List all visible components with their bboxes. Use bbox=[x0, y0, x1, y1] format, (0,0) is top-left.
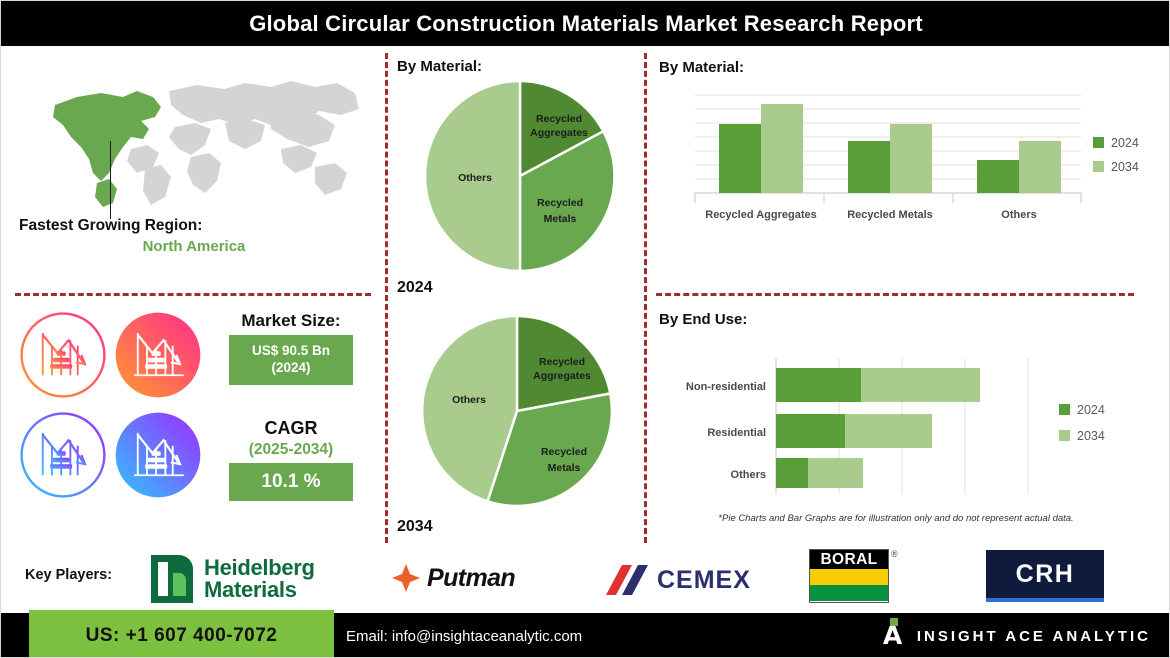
footer-phone[interactable]: US: +1 607 400-7072 bbox=[29, 613, 334, 658]
declining-chart-icon-filled-warm bbox=[112, 309, 204, 401]
bar-chart-legend: 2024 2034 bbox=[1093, 136, 1139, 174]
declining-chart-icon-outline-cool bbox=[17, 409, 109, 501]
bar-2034-others bbox=[1019, 141, 1061, 193]
insight-ace-logo-icon: A bbox=[883, 621, 905, 651]
bar-2034-recycled-aggregates bbox=[761, 104, 803, 193]
pie-section-heading: By Material: bbox=[397, 58, 482, 75]
stacked-bar-chart-by-end-use: Non-residential Residential Others 2024 … bbox=[661, 346, 1141, 511]
legend-swatch-2034 bbox=[1093, 161, 1104, 172]
hbar-chart-legend: 2024 2034 bbox=[1059, 403, 1105, 443]
key-players-label: Key Players: bbox=[25, 567, 112, 583]
footer-email[interactable]: Email: info@insightaceanalytic.com bbox=[346, 613, 582, 658]
pie-label-others: Others bbox=[452, 394, 486, 406]
brand-lockup: A INSIGHT ACE ANALYTIC bbox=[883, 613, 1151, 658]
pie-label-aggregates-line1: Recycled bbox=[539, 356, 585, 368]
declining-chart-icon-filled-cool bbox=[112, 409, 204, 501]
boral-registered-mark: ® bbox=[891, 549, 898, 559]
pie-label-metals-line1: Recycled bbox=[537, 197, 583, 209]
declining-chart-icon-outline-warm bbox=[17, 309, 109, 401]
cemex-wordmark: CEMEX bbox=[657, 566, 751, 595]
bar-2034-recycled-metals bbox=[890, 124, 932, 193]
legend-label-2024: 2024 bbox=[1111, 136, 1139, 150]
hbar-2024-others bbox=[776, 458, 808, 488]
bar-category-label-2: Others bbox=[1001, 209, 1036, 221]
legend-label-2034: 2034 bbox=[1077, 429, 1105, 443]
page-title: Global Circular Construction Materials M… bbox=[249, 11, 923, 37]
hbar-category-label-0: Non-residential bbox=[686, 381, 766, 393]
pie-label-aggregates-line2: Aggregates bbox=[530, 127, 588, 139]
pie-slices-2024 bbox=[425, 81, 614, 271]
market-size-label: Market Size: bbox=[211, 311, 371, 331]
brand-accent-square bbox=[890, 618, 898, 626]
logo-crh: CRH bbox=[986, 550, 1104, 602]
divider-horizontal-right bbox=[656, 293, 1134, 296]
divider-vertical-left bbox=[385, 53, 388, 543]
divider-horizontal-left bbox=[15, 293, 371, 296]
pie-label-others: Others bbox=[458, 172, 492, 184]
stat-icon-grid bbox=[17, 309, 207, 514]
enduse-section-heading: By End Use: bbox=[659, 311, 747, 328]
heidelberg-line1: Heidelberg bbox=[204, 557, 315, 579]
heidelberg-line2: Materials bbox=[204, 579, 315, 601]
hbar-2024-residential bbox=[776, 414, 845, 448]
pie-chart-2024: Recycled Aggregates Recycled Metals Othe… bbox=[423, 79, 617, 273]
logo-heidelberg-materials: Heidelberg Materials bbox=[149, 553, 315, 605]
bar-2024-others bbox=[977, 160, 1019, 193]
fastest-region-value: North America bbox=[19, 238, 369, 255]
boral-mark-icon: BORAL bbox=[809, 549, 889, 603]
bar-2024-recycled-aggregates bbox=[719, 124, 761, 193]
chart-disclaimer: *Pie Charts and Bar Graphs are for illus… bbox=[661, 513, 1131, 524]
boral-band-yellow bbox=[810, 569, 888, 585]
cagr-value: 10.1 % bbox=[261, 471, 320, 493]
legend-label-2034: 2034 bbox=[1111, 160, 1139, 174]
hbar-2034-non-residential bbox=[861, 368, 980, 402]
legend-swatch-2024 bbox=[1093, 137, 1104, 148]
pie-label-metals-line2: Metals bbox=[548, 462, 581, 474]
cagr-badge: 10.1 % bbox=[229, 463, 353, 501]
divider-vertical-right bbox=[644, 53, 647, 543]
report-title-bar: Global Circular Construction Materials M… bbox=[1, 1, 1170, 46]
logo-boral: BORAL ® bbox=[809, 549, 898, 603]
cagr-label: CAGR bbox=[211, 418, 371, 439]
pie-year-2034: 2034 bbox=[397, 518, 433, 536]
legend-swatch-2024 bbox=[1059, 404, 1070, 415]
bar-section-heading: By Material: bbox=[659, 59, 744, 76]
crh-mark-icon: CRH bbox=[986, 550, 1104, 602]
heidelberg-mark-icon bbox=[149, 553, 195, 605]
hbar-2034-others bbox=[808, 458, 863, 488]
map-pointer-line bbox=[110, 141, 111, 219]
pie-label-metals-line2: Metals bbox=[544, 213, 577, 225]
logo-putman: Putman bbox=[391, 563, 515, 593]
market-size-value: US$ 90.5 Bn bbox=[252, 343, 330, 360]
pie-label-aggregates-line1: Recycled bbox=[536, 113, 582, 125]
brand-name: INSIGHT ACE ANALYTIC bbox=[917, 628, 1151, 645]
fastest-region-label: Fastest Growing Region: bbox=[19, 217, 369, 235]
market-size-badge: US$ 90.5 Bn (2024) bbox=[229, 335, 353, 385]
pie-label-aggregates-line2: Aggregates bbox=[533, 370, 591, 382]
putman-wordmark: Putman bbox=[427, 564, 515, 593]
infographic-page: Global Circular Construction Materials M… bbox=[0, 0, 1170, 658]
bar-category-label-0: Recycled Aggregates bbox=[705, 209, 816, 221]
putman-mark-icon bbox=[391, 563, 421, 593]
crh-wordmark: CRH bbox=[1016, 560, 1075, 589]
hbar-category-label-2: Others bbox=[731, 469, 766, 481]
world-map bbox=[19, 63, 369, 213]
heidelberg-wordmark: Heidelberg Materials bbox=[204, 557, 315, 602]
pie-slices-2034 bbox=[422, 316, 612, 506]
pie-year-2024: 2024 bbox=[397, 279, 433, 297]
pie-chart-2034: Recycled Aggregates Recycled Metals Othe… bbox=[419, 313, 615, 509]
cagr-years: (2025-2034) bbox=[211, 441, 371, 459]
legend-swatch-2034 bbox=[1059, 430, 1070, 441]
map-base-continents bbox=[127, 81, 359, 205]
grouped-bar-chart-by-material: Recycled Aggregates Recycled Metals Othe… bbox=[661, 83, 1141, 238]
boral-wordmark: BORAL bbox=[810, 550, 888, 569]
pie-label-metals-line1: Recycled bbox=[541, 446, 587, 458]
market-size-year: (2024) bbox=[271, 360, 310, 377]
legend-label-2024: 2024 bbox=[1077, 403, 1105, 417]
bar-chart-axis-ticks bbox=[695, 193, 1081, 203]
hbar-2034-residential bbox=[845, 414, 932, 448]
boral-band-green bbox=[810, 585, 888, 601]
bar-2024-recycled-metals bbox=[848, 141, 890, 193]
logo-cemex: CEMEX bbox=[596, 563, 751, 597]
bar-category-label-1: Recycled Metals bbox=[847, 209, 933, 221]
hbar-2024-non-residential bbox=[776, 368, 861, 402]
hbar-category-label-1: Residential bbox=[707, 427, 766, 439]
cemex-mark-icon bbox=[596, 563, 654, 597]
